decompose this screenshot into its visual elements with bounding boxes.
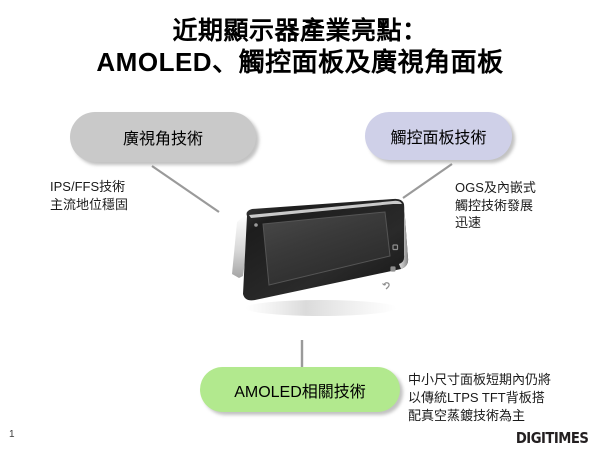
- annotation-amoled: 中小尺寸面板短期內仍將 以傳統LTPS TFT背板搭 配真空蒸鍍技術為主: [408, 371, 551, 426]
- annotation-wide-view: IPS/FFS技術 主流地位穩固: [50, 178, 128, 213]
- menu-icon: [391, 267, 395, 271]
- tablet-illustration: [225, 198, 411, 320]
- node-touch-panel-label: 觸控面板技術: [390, 124, 486, 148]
- page-title: 近期顯示器產業亮點： AMOLED、觸控面板及廣視角面板: [0, 16, 600, 78]
- annotation-touch-panel: OGS及內嵌式 觸控技術發展 迅速: [455, 179, 536, 232]
- camera-dot-icon: [254, 223, 258, 227]
- connector-wide-view-to-tablet: [152, 166, 219, 212]
- node-wide-view-technology[interactable]: 廣視角技術: [70, 112, 256, 162]
- device-shadow: [245, 300, 397, 316]
- node-wide-view-label: 廣視角技術: [123, 125, 203, 149]
- digitimes-logo: DIGITIMES: [516, 429, 588, 447]
- connector-touch-panel-to-tablet: [403, 164, 452, 198]
- page-title-line-2: AMOLED、觸控面板及廣視角面板: [0, 47, 600, 79]
- node-touch-panel-technology[interactable]: 觸控面板技術: [365, 112, 512, 160]
- node-amoled-label: AMOLED相關技術: [234, 378, 366, 402]
- page-title-line-1: 近期顯示器產業亮點：: [0, 16, 600, 47]
- page-number: 1: [9, 429, 15, 440]
- back-icon: [383, 283, 390, 289]
- node-amoled-technology[interactable]: AMOLED相關技術: [200, 367, 400, 412]
